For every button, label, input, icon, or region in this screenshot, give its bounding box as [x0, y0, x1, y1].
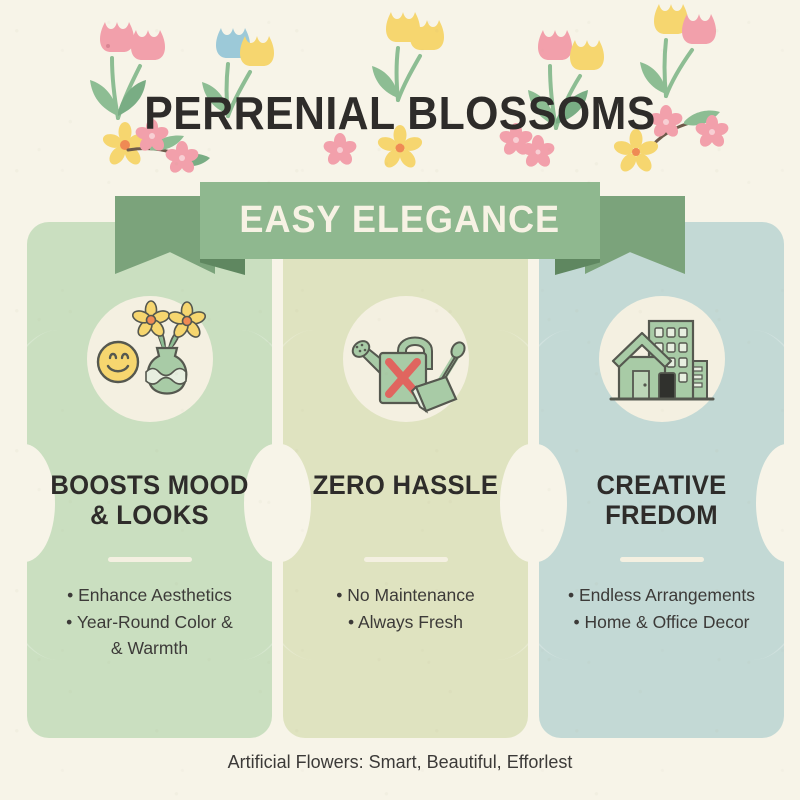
card-divider [108, 557, 192, 562]
house-and-office-building-icon [599, 296, 725, 422]
bullet-item: • Year-Round Color & & Warmth [35, 609, 264, 662]
footer-tagline: Artificial Flowers: Smart, Beautiful, Ef… [0, 752, 800, 773]
bullet-item: • Home & Office Decor [547, 609, 776, 636]
card-title: ZERO HASSLE [301, 470, 511, 500]
card-bullets: • Enhance Aesthetics • Year-Round Color … [35, 582, 264, 662]
ribbon-center-panel: EASY ELEGANCE [200, 182, 600, 259]
card-bullets: • No Maintenance • Always Fresh [291, 582, 520, 635]
ribbon-tail-right [585, 196, 685, 274]
benefit-card-creative-fredom[interactable]: CREATIVE FREDOM • Endless Arrangements •… [539, 222, 784, 738]
benefit-card-boosts-mood[interactable]: BOOSTS MOOD & LOOKS • Enhance Aesthetics… [27, 222, 272, 738]
bullet-item: • Always Fresh [291, 609, 520, 636]
benefit-cards-row: BOOSTS MOOD & LOOKS • Enhance Aesthetics… [0, 222, 800, 738]
card-divider [620, 557, 704, 562]
card-divider [364, 557, 448, 562]
tulip-cluster-far-right [640, 4, 716, 96]
smiley-and-flower-vase-icon [87, 296, 213, 422]
ribbon-banner: EASY ELEGANCE [0, 182, 800, 287]
infographic-poster: PERRENIAL BLOSSOMS EASY ELEGANCE [0, 0, 800, 800]
bullet-item: • Enhance Aesthetics [35, 582, 264, 609]
card-title: BOOSTS MOOD & LOOKS [45, 470, 255, 530]
card-title: CREATIVE FREDOM [557, 470, 767, 530]
ribbon-label: EASY ELEGANCE [240, 199, 561, 242]
bullet-item: • Endless Arrangements [547, 582, 776, 609]
benefit-card-zero-hassle[interactable]: ZERO HASSLE • No Maintenance • Always Fr… [283, 222, 528, 738]
page-title: PERRENIAL BLOSSOMS [28, 86, 772, 140]
card-bullets: • Endless Arrangements • Home & Office D… [547, 582, 776, 635]
bullet-item: • No Maintenance [291, 582, 520, 609]
no-watering-can-and-dustpan-icon [343, 296, 469, 422]
